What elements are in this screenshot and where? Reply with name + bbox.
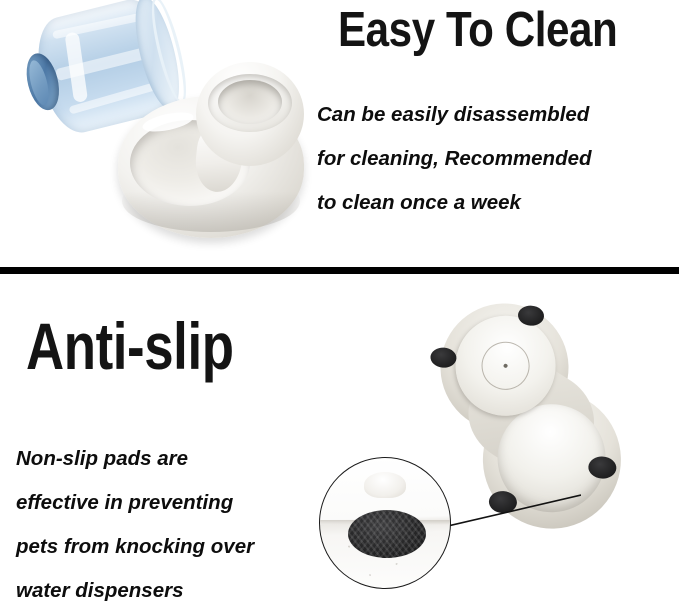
heading-easy-to-clean: Easy To Clean — [338, 2, 617, 58]
bottle-cap-face — [26, 58, 53, 107]
description-line: water dispensers — [16, 569, 254, 601]
description-line: Can be easily disassembled — [317, 93, 592, 137]
description-line: pets from knocking over — [16, 525, 254, 569]
description-line: to clean once a week — [317, 181, 592, 225]
product-feature-infographic: Easy To Clean Can be easily disassembled… — [0, 0, 679, 601]
description-line: Non-slip pads are — [16, 437, 254, 481]
description-easy-to-clean: Can be easily disassembled for cleaning,… — [317, 93, 592, 225]
base-bottle-socket — [196, 62, 304, 166]
section-divider — [0, 267, 679, 274]
description-line: effective in preventing — [16, 481, 254, 525]
heading-anti-slip: Anti-slip — [26, 308, 234, 384]
photo-base-underside — [412, 318, 674, 530]
magnifier-circle-icon — [319, 457, 451, 589]
dispenser-base-icon — [118, 62, 306, 248]
anti-slip-pad-icon — [348, 510, 426, 558]
description-line: for cleaning, Recommended — [317, 137, 592, 181]
description-anti-slip: Non-slip pads are effective in preventin… — [16, 437, 254, 601]
photo-disassembled-dispenser — [0, 0, 310, 258]
magnifier-surface-nub — [364, 472, 406, 498]
base-socket-opening — [218, 80, 282, 124]
